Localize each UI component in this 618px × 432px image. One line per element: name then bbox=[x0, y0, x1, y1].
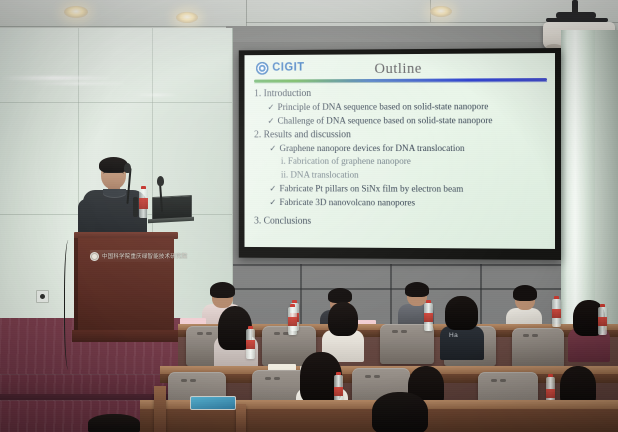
wall-panel-seam bbox=[390, 264, 392, 332]
slide-title: Outline bbox=[245, 60, 556, 79]
person-hair-long bbox=[88, 414, 140, 432]
slide-bullet: 2. Results and discussion bbox=[254, 128, 547, 142]
desk-leg bbox=[236, 404, 246, 432]
checkmark-icon: ✓ bbox=[267, 116, 274, 126]
person-hair bbox=[405, 282, 429, 297]
slide-bullet-text: Fabricate Pt pillars on SiNx film by ele… bbox=[280, 184, 464, 194]
checkmark-icon: ✓ bbox=[269, 183, 276, 193]
bottle-label bbox=[334, 387, 343, 396]
tablet-device bbox=[190, 396, 236, 410]
list-marker: i. bbox=[281, 157, 286, 167]
bottle-label bbox=[424, 313, 433, 322]
bottle-label bbox=[546, 389, 555, 398]
slide-bullet-text: Results and discussion bbox=[264, 130, 351, 141]
wall-panel-seam bbox=[300, 264, 302, 332]
glass-reflection bbox=[28, 82, 124, 85]
list-marker: ii. bbox=[281, 170, 288, 180]
ceiling-seam bbox=[0, 26, 246, 27]
list-marker: 1. bbox=[254, 88, 261, 99]
projection-screen-frame: CIGIT Outline 1. Introduction✓ Principle… bbox=[239, 48, 561, 260]
presenter-glasses bbox=[103, 172, 124, 177]
checkmark-icon: ✓ bbox=[269, 144, 276, 154]
institute-seal-icon bbox=[90, 252, 99, 261]
glass-reflection bbox=[0, 76, 110, 80]
slide-bullet-text: Introduction bbox=[264, 88, 312, 99]
wall-highlight bbox=[226, 26, 562, 42]
microphone-head bbox=[157, 176, 164, 186]
podium-nameplate-text: 中国科学院重庆绿智能技术研究院 bbox=[102, 252, 187, 260]
audience-member bbox=[88, 414, 148, 432]
slide-bullet: i. Fabrication of graphene nanopore bbox=[281, 156, 547, 169]
ceiling-downlight bbox=[176, 12, 198, 23]
bottle-label bbox=[552, 309, 561, 318]
wall-power-outlet bbox=[36, 290, 49, 303]
presenter-collar bbox=[103, 189, 126, 198]
person-hair bbox=[328, 288, 352, 303]
person-hair bbox=[328, 302, 358, 336]
presentation-slide: CIGIT Outline 1. Introduction✓ Principle… bbox=[245, 53, 556, 249]
slide-bullet-text: Challenge of DNA sequence based on solid… bbox=[278, 116, 493, 126]
slide-bullet-text: DNA translocation bbox=[290, 170, 358, 180]
shirt-logo-text: Ha bbox=[449, 332, 458, 339]
slide-bullet: ✓ Principle of DNA sequence based on sol… bbox=[267, 100, 547, 115]
slide-bullet: 3. Conclusions bbox=[254, 215, 547, 230]
person-hair bbox=[445, 296, 478, 330]
projection-screen: CIGIT Outline 1. Introduction✓ Principle… bbox=[245, 53, 556, 249]
podium: 中国科学院重庆绿智能技术研究院 bbox=[74, 232, 178, 356]
microphone-head bbox=[124, 163, 131, 173]
list-marker: 3. bbox=[254, 216, 261, 227]
bottle-label bbox=[246, 340, 255, 349]
lecture-hall-photo: EPSON CIGIT Outline 1. Introduction✓ Pri… bbox=[0, 0, 618, 432]
ceiling-downlight bbox=[430, 6, 452, 17]
bottle-label bbox=[288, 317, 297, 326]
auditorium-seat bbox=[512, 328, 564, 368]
checkmark-icon: ✓ bbox=[267, 102, 274, 112]
audience-member bbox=[372, 392, 436, 432]
slide-bullet-text: Fabrication of graphene nanopore bbox=[288, 157, 411, 167]
person-hair-long bbox=[372, 392, 428, 432]
slide-bullet: ✓ Fabricate 3D nanovolcano nanopores bbox=[269, 196, 547, 211]
slide-bullet: ✓ Challenge of DNA sequence based on sol… bbox=[267, 114, 547, 129]
wall-panel-seam bbox=[226, 264, 562, 266]
ceiling-downlight bbox=[64, 6, 88, 18]
slide-bullet: 1. Introduction bbox=[254, 86, 547, 101]
slide-accent-bar-shadow bbox=[254, 81, 547, 84]
slide-bullet-text: Principle of DNA sequence based on solid… bbox=[278, 102, 489, 113]
slide-bullet-text: Fabricate 3D nanovolcano nanopores bbox=[280, 198, 416, 208]
person-hair bbox=[210, 282, 235, 298]
bottle-label bbox=[139, 198, 148, 209]
podium-base bbox=[72, 330, 182, 342]
water-bottle-podium bbox=[139, 186, 148, 218]
glass-reflection bbox=[136, 94, 176, 96]
microphone-body bbox=[133, 197, 138, 217]
slide-bullet: ii. DNA translocation bbox=[281, 169, 547, 182]
checkmark-icon: ✓ bbox=[269, 197, 276, 207]
slide-bullet-text: Conclusions bbox=[264, 216, 312, 227]
podium-front-panel: 中国科学院重庆绿智能技术研究院 bbox=[78, 238, 174, 332]
slide-bullet: ✓ Fabricate Pt pillars on SiNx film by e… bbox=[269, 182, 547, 197]
slide-body: 1. Introduction✓ Principle of DNA sequen… bbox=[252, 86, 547, 230]
list-marker: 2. bbox=[254, 130, 261, 141]
bottle-label bbox=[598, 317, 607, 326]
slide-bullet-text: Graphene nanopore devices for DNA transl… bbox=[280, 144, 465, 154]
power-cable bbox=[64, 240, 75, 370]
desk-leg bbox=[154, 386, 166, 432]
podium-nameplate: 中国科学院重庆绿智能技术研究院 bbox=[90, 250, 170, 262]
glass-mullion bbox=[0, 102, 232, 103]
person-torso bbox=[440, 326, 484, 360]
person-hair bbox=[513, 285, 537, 301]
slide-bullet: ✓ Graphene nanopore devices for DNA tran… bbox=[269, 142, 547, 156]
audience-member: Ha bbox=[440, 296, 484, 360]
